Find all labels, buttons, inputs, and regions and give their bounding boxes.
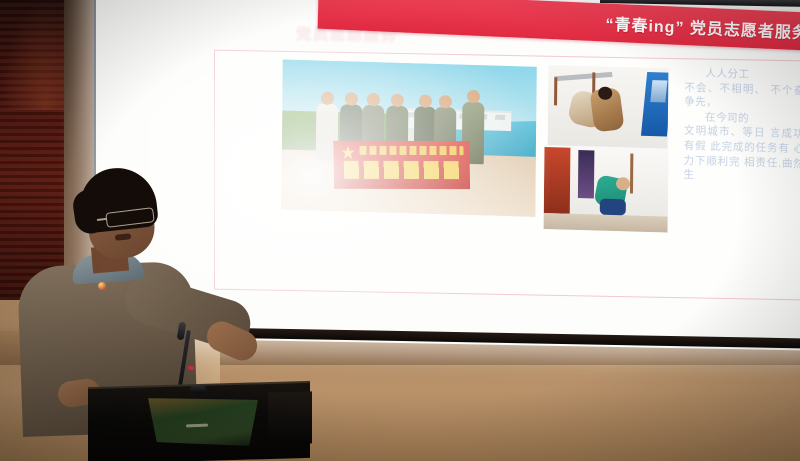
party-emblem-icon [341,146,354,159]
microphone-indicator [188,366,195,371]
photo-person-head [439,95,452,108]
photo-person-head [367,93,380,106]
microphone-base [190,386,206,394]
photo-person-head [391,94,404,107]
podium-side [268,391,312,444]
slide-title-text: “青春ing” 党员志愿者服务队 [605,11,800,45]
body-text-line: 文明城市、等日 [684,125,766,139]
party-pin-icon [98,282,106,290]
body-text-line: 此完成的任务有 [710,140,790,154]
photo-person-head [321,92,334,105]
body-text-line: 不会、不相明、 [684,81,766,95]
photo-person-leg [600,199,626,216]
photo-red-banner [333,141,470,189]
photo-person-head [345,92,358,105]
presentation-scene: 党员志愿服务 “青春ing” 党员志愿者服务队 [0,0,800,461]
photo-post [630,153,633,193]
wood-panel-glow [0,0,64,110]
slide-body-text: 人人分工 不会、不相明、 不个奋勇争先， 在今司的 文明城市、等日 言成功、有假… [683,66,800,187]
photo-indoor-top [548,65,669,154]
photo-indoor-bottom [544,145,669,233]
photo-post [554,77,557,105]
photo-kiosk-screen [650,80,667,102]
photo-person-head [467,90,480,103]
photo-doorway [578,150,595,198]
photo-person-head [419,94,432,107]
photo-red-panel [544,147,571,214]
photo-banner-top-text [359,146,463,155]
speaker-person [20,168,250,418]
podium-reflection [148,398,258,446]
photo-person-head [598,87,612,100]
photo-person-head [616,177,630,190]
photo-group-volunteers [281,60,537,217]
photo-banner-main-text [344,161,462,179]
